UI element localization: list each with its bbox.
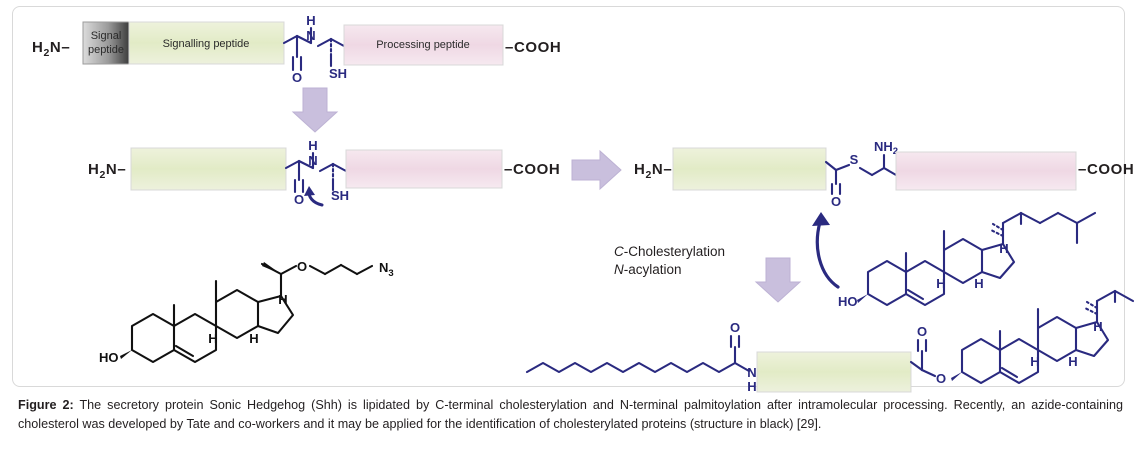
figure-number: Figure 2: bbox=[18, 398, 74, 412]
azide-cholesterol-azide: N3 bbox=[379, 260, 394, 279]
figure-caption: Figure 2: The secretory protein Sonic He… bbox=[18, 396, 1123, 433]
row2-left-cysteine-linker: H N O SH bbox=[286, 138, 349, 207]
row2-left-pink-box bbox=[346, 150, 502, 188]
curved-attack-arrowhead bbox=[304, 186, 315, 196]
cholesterol-blue-h-1: H bbox=[936, 276, 945, 291]
reaction-label-cholesterylation: C-Cholesterylation bbox=[614, 244, 725, 259]
row1-amide-nh-h: H bbox=[306, 13, 315, 28]
row3-amide-h: H bbox=[747, 379, 756, 394]
cholesterol-blue-hydroxyl: HO bbox=[838, 294, 858, 309]
signal-peptide-label-line1: Signal bbox=[91, 30, 122, 42]
cholesterol-blue-structure: HO H H H bbox=[838, 213, 1095, 309]
down-arrow-2 bbox=[756, 258, 800, 302]
figure-caption-text: The secretory protein Sonic Hedgehog (Sh… bbox=[18, 398, 1123, 431]
row2-right-carbonyl-o: O bbox=[831, 194, 841, 209]
row2-left-green-box bbox=[131, 148, 286, 190]
signalling-peptide-label: Signalling peptide bbox=[163, 38, 250, 50]
row3-lipidated-product: O N H O O bbox=[527, 291, 1133, 394]
curved-up-arrowhead bbox=[812, 212, 830, 226]
azide-cholesterol-ether-o: O bbox=[297, 259, 307, 274]
row3-ester-o: O bbox=[936, 371, 946, 386]
row2-left-c-terminus: –COOH bbox=[504, 161, 560, 178]
processing-peptide-label: Processing peptide bbox=[376, 39, 470, 51]
row2-right-thioester-intermediate: H2N– S O NH2 –COOH bbox=[634, 139, 1134, 209]
row3-cholesteryl-h-2: H bbox=[1068, 354, 1077, 369]
row2-left-carbonyl-o: O bbox=[294, 192, 304, 207]
row1-c-terminus: –COOH bbox=[505, 39, 561, 56]
row2-right-pink-box bbox=[896, 152, 1076, 190]
right-arrow-1 bbox=[572, 151, 621, 189]
row1-precursor-protein: H2N– Signal peptide Signalling peptide bbox=[32, 13, 561, 85]
row3-carbonyl-o: O bbox=[730, 320, 740, 335]
azide-cholesterol-hydroxyl: HO bbox=[99, 350, 119, 365]
azide-cholesterol-h-3: H bbox=[278, 292, 287, 307]
row2-left-thiol-sh: SH bbox=[331, 188, 349, 203]
row3-cholesteryl-h-1: H bbox=[1030, 354, 1039, 369]
azide-cholesterol-black-structure: HO O N3 H H H bbox=[99, 259, 394, 365]
azide-cholesterol-h-1: H bbox=[208, 331, 217, 346]
row2-right-green-box bbox=[673, 148, 826, 190]
row1-carbonyl-o: O bbox=[292, 70, 302, 85]
row2-right-c-terminus: –COOH bbox=[1078, 161, 1134, 178]
signal-peptide-label-line2: peptide bbox=[88, 44, 124, 56]
row1-n-terminus: H2N– bbox=[32, 39, 70, 59]
row2-right-amine-nh2: NH2 bbox=[874, 139, 898, 157]
down-arrow-1 bbox=[293, 88, 337, 132]
figure-container: H2N– Signal peptide Signalling peptide bbox=[0, 0, 1139, 473]
curved-up-arrow-line bbox=[817, 222, 838, 287]
row1-thiol-sh: SH bbox=[329, 66, 347, 81]
cholesterol-blue-h-3: H bbox=[999, 241, 1008, 256]
row3-amide-n: N bbox=[747, 365, 756, 380]
reaction-label-acylation: N-acylation bbox=[614, 262, 682, 277]
row2-left-processed-protein: H2N– H N O SH bbox=[88, 138, 560, 207]
row2-left-n-terminus: H2N– bbox=[88, 161, 126, 181]
row2-left-amide-n: N bbox=[308, 153, 317, 168]
row2-right-n-terminus: H2N– bbox=[634, 161, 672, 181]
signal-peptide-box bbox=[83, 22, 129, 64]
row1-amide-n: N bbox=[306, 28, 315, 43]
row3-ester-carbonyl-o: O bbox=[917, 324, 927, 339]
curved-up-arrow bbox=[812, 212, 838, 287]
row2-right-thioester-linker: S O NH2 bbox=[826, 139, 898, 209]
row3-green-box bbox=[757, 352, 911, 392]
row3-cholesteryl-h-3: H bbox=[1093, 319, 1102, 334]
row2-right-thioester-s: S bbox=[850, 152, 859, 167]
azide-cholesterol-h-2: H bbox=[249, 331, 258, 346]
cholesterol-blue-h-2: H bbox=[974, 276, 983, 291]
row2-left-amide-nh-h: H bbox=[308, 138, 317, 153]
row1-cysteine-linker: H N O SH bbox=[284, 13, 347, 85]
